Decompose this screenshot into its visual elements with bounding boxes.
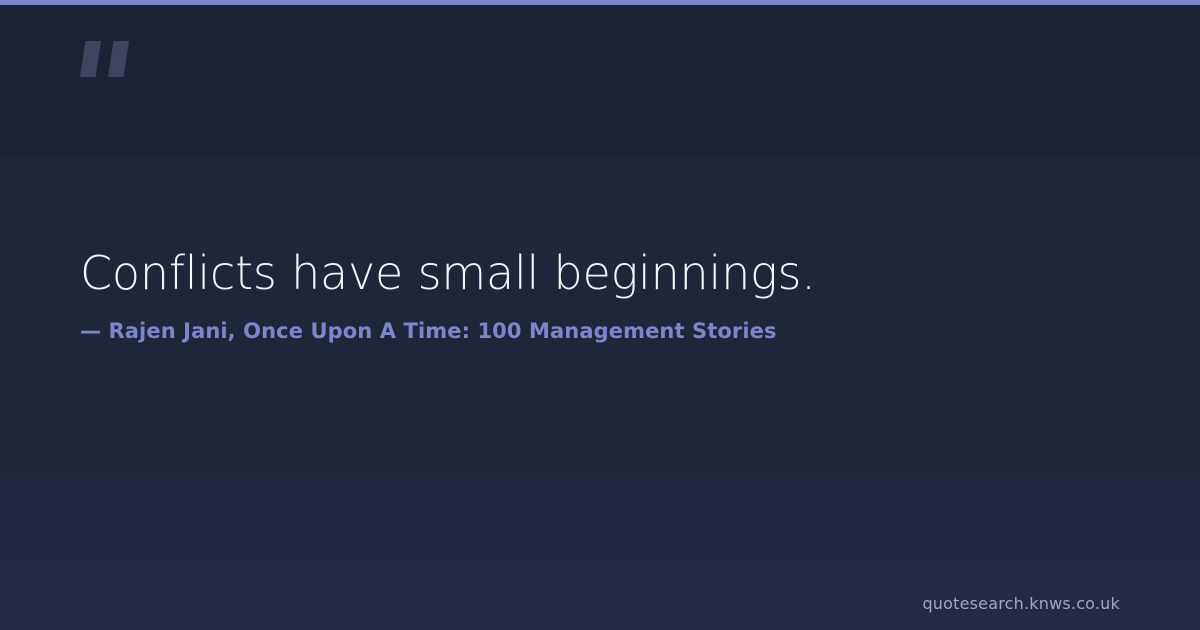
open-quote-icon <box>80 41 132 77</box>
footer-site-url: quotesearch.knws.co.uk <box>922 596 1120 612</box>
top-accent-bar <box>0 0 1200 5</box>
open-quote-icon-stroke-right <box>108 41 129 77</box>
quote-card: Conflicts have small beginnings. — Rajen… <box>0 0 1200 630</box>
quote-text: Conflicts have small beginnings. <box>80 246 1120 300</box>
quote-content: Conflicts have small beginnings. — Rajen… <box>80 246 1120 346</box>
open-quote-icon-stroke-left <box>80 41 101 77</box>
quote-attribution: — Rajen Jani, Once Upon A Time: 100 Mana… <box>80 318 1120 345</box>
